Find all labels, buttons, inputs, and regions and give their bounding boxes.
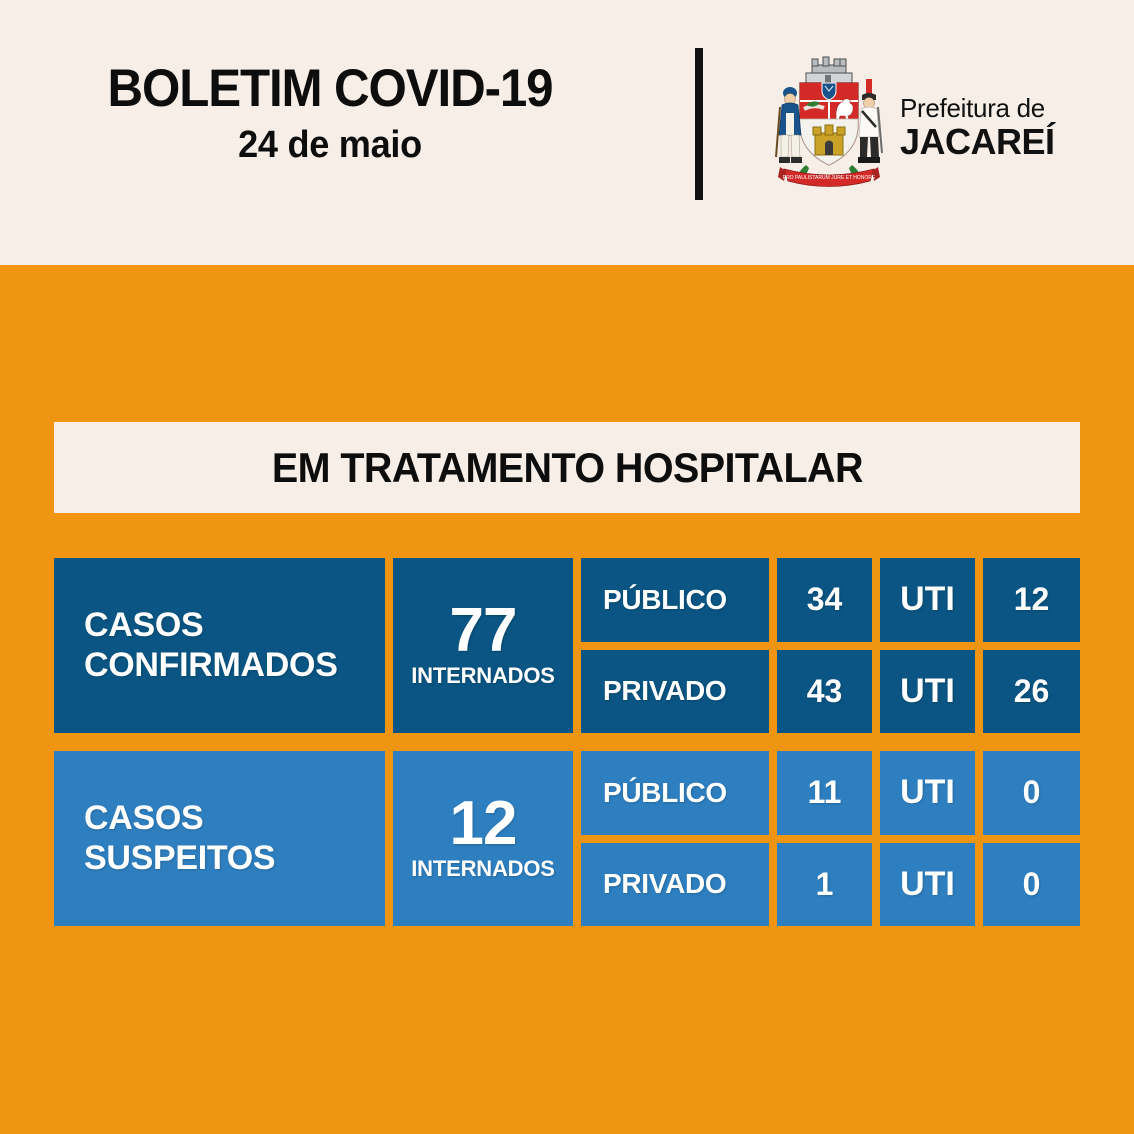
- row-label-line1: CASOS: [84, 606, 338, 645]
- row-label-line1: CASOS: [84, 799, 275, 838]
- uti-label: UTI: [880, 558, 975, 642]
- row-label-line2: CONFIRMADOS: [84, 646, 338, 685]
- bulletin-date: 24 de maio: [17, 126, 644, 164]
- uti-count: 12: [983, 558, 1080, 642]
- sector-label: PÚBLICO: [581, 558, 769, 642]
- page-title: BOLETIM COVID-19: [23, 62, 637, 115]
- header-title-block: BOLETIM COVID-19 24 de maio: [0, 62, 660, 164]
- header-bar: BOLETIM COVID-19 24 de maio: [0, 0, 1134, 265]
- total-caption: INTERNADOS: [411, 856, 554, 882]
- breakdown-row-publico: PÚBLICO 34 UTI 12: [581, 558, 1080, 642]
- row-total-suspeitos: 12 INTERNADOS: [393, 751, 573, 926]
- sector-count: 11: [777, 751, 872, 835]
- breakdown-row-privado: PRIVADO 1 UTI 0: [581, 843, 1080, 927]
- uti-label: UTI: [880, 843, 975, 927]
- row-label-suspeitos: CASOS SUSPEITOS: [54, 751, 385, 926]
- row-breakdown-confirmados: PÚBLICO 34 UTI 12 PRIVADO 43 UTI 26: [581, 558, 1080, 733]
- breakdown-row-privado: PRIVADO 43 UTI 26: [581, 650, 1080, 734]
- sector-count: 34: [777, 558, 872, 642]
- content-area: EM TRATAMENTO HOSPITALAR CASOS CONFIRMAD…: [0, 265, 1134, 1134]
- row-breakdown-suspeitos: PÚBLICO 11 UTI 0 PRIVADO 1 UTI 0: [581, 751, 1080, 926]
- table-row: CASOS SUSPEITOS 12 INTERNADOS PÚBLICO 11…: [54, 751, 1080, 926]
- row-label-confirmados: CASOS CONFIRMADOS: [54, 558, 385, 733]
- crest-motto-text: PRO PAULISTARUM JURE ET HONORE: [783, 175, 876, 181]
- brand-city-name: JACAREÍ: [900, 123, 1055, 161]
- coat-of-arms-icon: PRO PAULISTARUM JURE ET HONORE: [770, 53, 888, 203]
- brand-block: PRO PAULISTARUM JURE ET HONORE Prefeitur…: [770, 48, 1100, 208]
- sector-label: PRIVADO: [581, 650, 769, 734]
- section-banner-title: EM TRATAMENTO HOSPITALAR: [271, 444, 862, 492]
- table-row: CASOS CONFIRMADOS 77 INTERNADOS PÚBLICO …: [54, 558, 1080, 733]
- total-number: 77: [450, 602, 517, 661]
- breakdown-row-publico: PÚBLICO 11 UTI 0: [581, 751, 1080, 835]
- section-banner: EM TRATAMENTO HOSPITALAR: [54, 422, 1080, 513]
- sector-count: 1: [777, 843, 872, 927]
- uti-count: 0: [983, 843, 1080, 927]
- sector-count: 43: [777, 650, 872, 734]
- header-vertical-divider: [695, 48, 703, 200]
- total-number: 12: [450, 795, 517, 854]
- uti-label: UTI: [880, 751, 975, 835]
- uti-count: 0: [983, 751, 1080, 835]
- brand-text: Prefeitura de JACAREÍ: [900, 95, 1055, 160]
- total-caption: INTERNADOS: [411, 663, 554, 689]
- hospital-treatment-grid: CASOS CONFIRMADOS 77 INTERNADOS PÚBLICO …: [54, 558, 1080, 926]
- sector-label: PRIVADO: [581, 843, 769, 927]
- sector-label: PÚBLICO: [581, 751, 769, 835]
- uti-count: 26: [983, 650, 1080, 734]
- row-total-confirmados: 77 INTERNADOS: [393, 558, 573, 733]
- row-label-line2: SUSPEITOS: [84, 839, 275, 878]
- uti-label: UTI: [880, 650, 975, 734]
- brand-prefecture-label: Prefeitura de: [900, 95, 1055, 122]
